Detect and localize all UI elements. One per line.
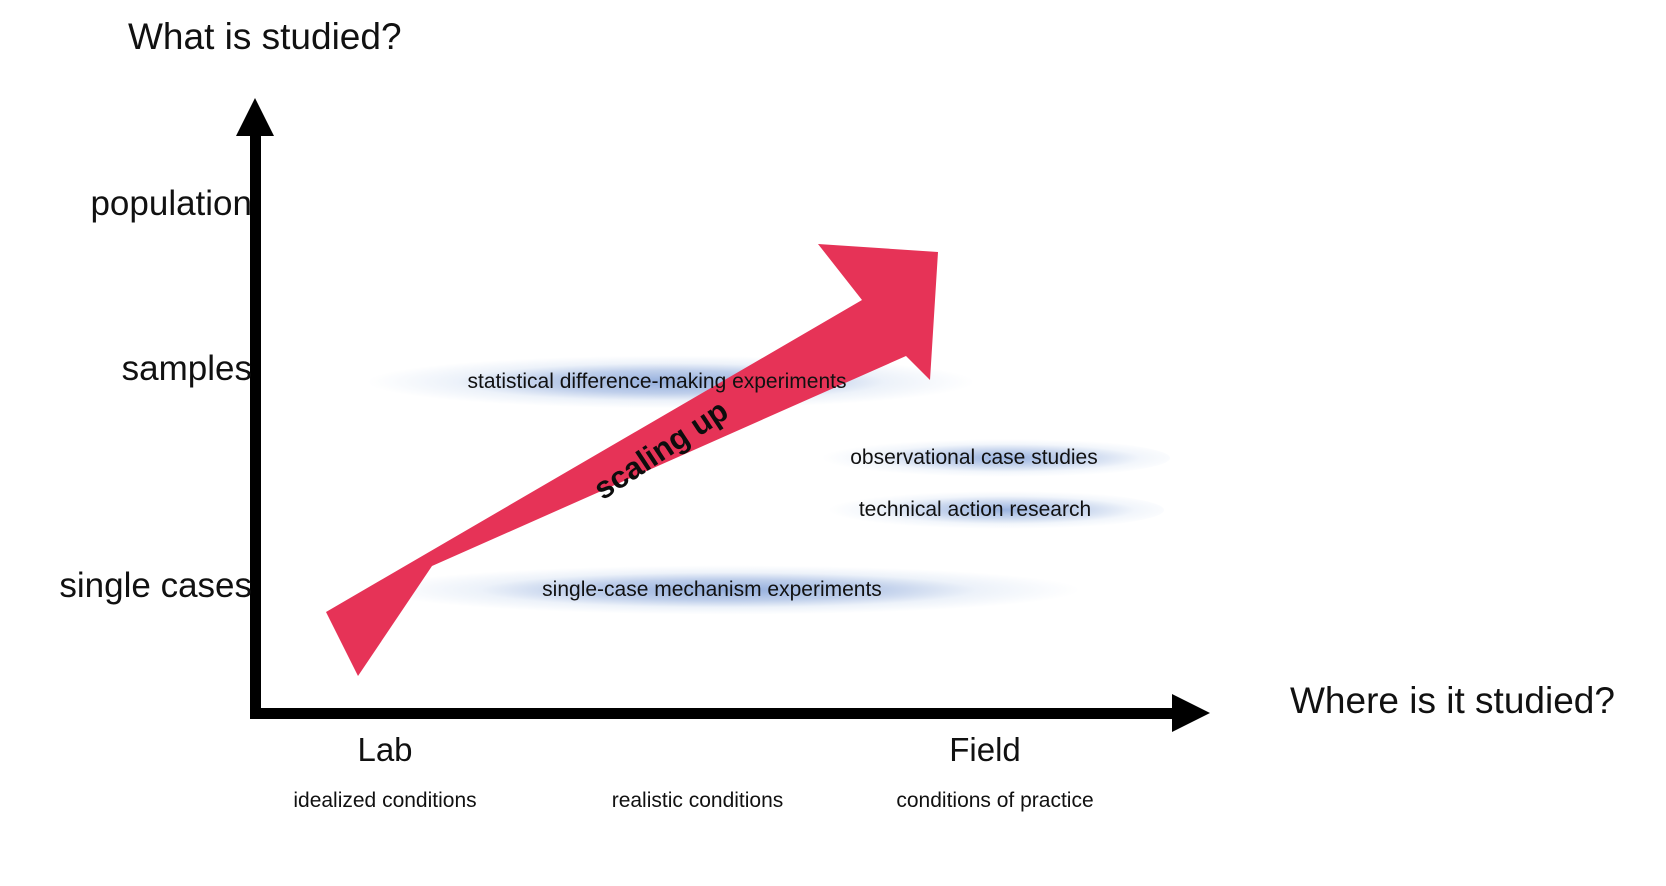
region-single-case-mechanism-experiments: single-case mechanism experiments	[312, 562, 1112, 618]
region-statistical-difference-making-experiments: statistical difference-making experiment…	[312, 352, 1002, 412]
y-axis-title: What is studied?	[128, 18, 402, 57]
x-axis-arrow-icon	[1172, 694, 1210, 732]
region-technical-action-research: technical action research	[786, 489, 1164, 531]
region-label: statistical difference-making experiment…	[468, 370, 847, 394]
x-subcaption-practice: conditions of practice	[800, 790, 1190, 811]
region-label: observational case studies	[850, 446, 1097, 470]
region-label: technical action research	[859, 498, 1091, 522]
y-tick-samples: samples	[122, 351, 252, 386]
region-label: single-case mechanism experiments	[542, 578, 882, 602]
y-axis-arrow-icon	[236, 98, 274, 136]
x-tick-lab: Lab	[300, 733, 470, 766]
x-subcaption-idealized: idealized conditions	[200, 790, 570, 811]
x-tick-field: Field	[900, 733, 1070, 766]
y-tick-single-cases: single cases	[59, 568, 252, 603]
x-axis-line	[250, 708, 1180, 719]
x-axis-title: Where is it studied?	[1290, 682, 1615, 721]
y-tick-population: population	[90, 186, 252, 221]
diagram-canvas: What is studied? Where is it studied? po…	[0, 0, 1666, 886]
region-observational-case-studies: observational case studies	[778, 437, 1170, 479]
